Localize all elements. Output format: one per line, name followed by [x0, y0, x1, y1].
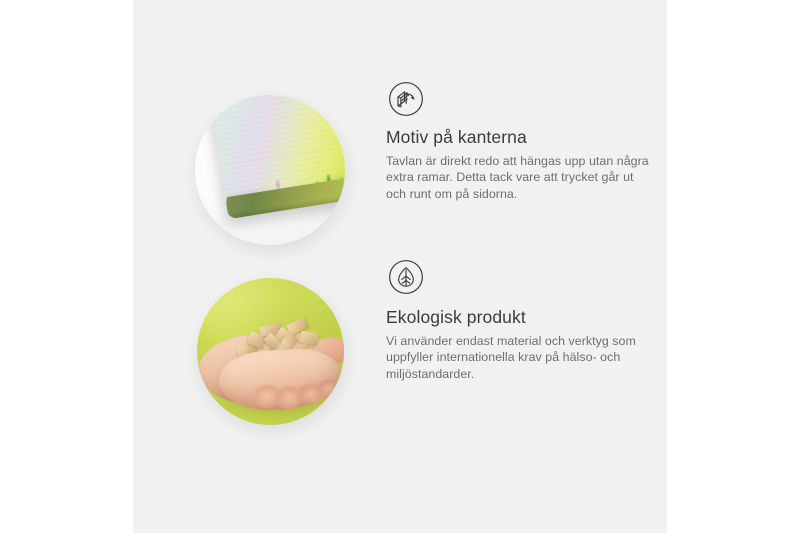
canvas-wrapped-edge-icon [387, 80, 425, 118]
leaf-icon [387, 258, 425, 296]
wood-chips-hands-photo [197, 278, 344, 425]
canvas-block [210, 95, 345, 219]
content-panel: Motiv på kanterna Tavlan är direkt redo … [133, 0, 667, 533]
feature-description: Tavlan är direkt redo att hängas upp uta… [386, 153, 654, 202]
fingers [254, 379, 340, 415]
feature-title: Ekologisk produkt [386, 306, 654, 328]
feature-row-eco: Ekologisk produkt Vi använder endast mat… [133, 250, 667, 430]
canvas-corner-photo [195, 95, 345, 245]
feature-row-edges: Motiv på kanterna Tavlan är direkt redo … [133, 70, 667, 250]
product-feature-banner: Motiv på kanterna Tavlan är direkt redo … [0, 0, 800, 533]
feature-text-edges: Motiv på kanterna Tavlan är direkt redo … [386, 126, 654, 202]
feature-title: Motiv på kanterna [386, 126, 654, 148]
meadow-backdrop [197, 278, 344, 425]
feature-text-eco: Ekologisk produkt Vi använder endast mat… [386, 306, 654, 382]
canvas-photo-backdrop [195, 95, 345, 245]
canvas-edge-shadow [224, 190, 345, 219]
feature-description: Vi använder endast material och verktyg … [386, 333, 654, 382]
